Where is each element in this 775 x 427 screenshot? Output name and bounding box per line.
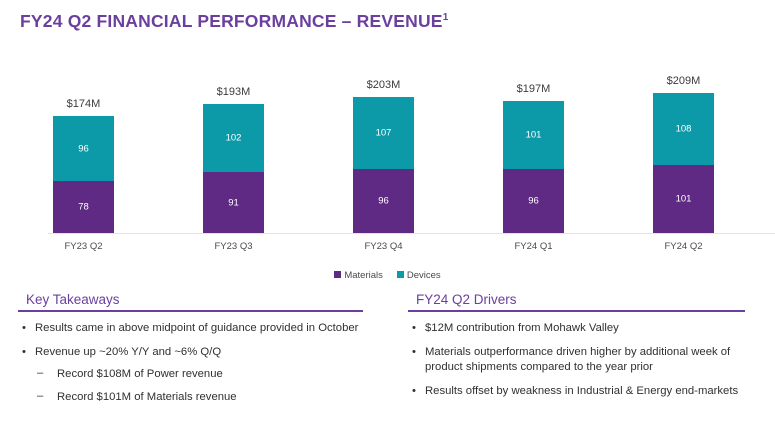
bar-total-label: $193M (191, 86, 276, 98)
bullet-item: •Revenue up ~20% Y/Y and ~6% Q/Q–Record … (18, 345, 386, 405)
title-footnote-marker: 1 (443, 12, 449, 23)
bar-segment-materials[interactable]: 78 (53, 181, 114, 233)
page-title-text: FY24 Q2 FINANCIAL PERFORMANCE – REVENUE (20, 11, 443, 31)
legend-item[interactable]: Materials (334, 270, 383, 281)
bar-segment-value: 101 (503, 130, 564, 140)
bar-segment-devices[interactable]: 101 (503, 101, 564, 169)
bar-segment-devices[interactable]: 107 (353, 97, 414, 169)
sub-bullet-marker-icon: – (37, 389, 43, 404)
bullet-item: •Materials outperformance driven higher … (408, 345, 753, 375)
bullet-marker-icon: • (22, 321, 26, 336)
legend-swatch-icon (397, 271, 404, 278)
bar-group: 10291$193MFY23 Q3 (203, 58, 264, 233)
bar-stack[interactable]: 9678 (53, 116, 114, 233)
bar-group: 108101$209MFY24 Q2 (653, 58, 714, 233)
bullet-item: •$12M contribution from Mohawk Valley (408, 321, 753, 336)
x-axis-label: FY23 Q2 (39, 241, 128, 252)
bar-segment-devices[interactable]: 108 (653, 93, 714, 165)
bullet-text: Results offset by weakness in Industrial… (425, 385, 738, 397)
legend-swatch-icon (334, 271, 341, 278)
bar-segment-value: 107 (353, 128, 414, 138)
bullet-text: Revenue up ~20% Y/Y and ~6% Q/Q (35, 346, 221, 358)
drivers-heading: FY24 Q2 Drivers (408, 292, 753, 310)
bar-segment-value: 78 (53, 202, 114, 212)
legend-item[interactable]: Devices (397, 270, 441, 281)
bar-segment-value: 96 (53, 144, 114, 154)
sub-bullet-text: Record $108M of Power revenue (57, 368, 223, 380)
bullet-text: Materials outperformance driven higher b… (425, 346, 730, 373)
sub-bullet-text: Record $101M of Materials revenue (57, 391, 237, 403)
sub-bullet-item: –Record $101M of Materials revenue (35, 390, 386, 405)
bullet-text: $12M contribution from Mohawk Valley (425, 322, 619, 334)
bar-segment-value: 91 (203, 198, 264, 208)
chart-plot-area: 9678$174MFY23 Q210291$193MFY23 Q310796$2… (30, 58, 745, 233)
legend-label: Devices (407, 270, 441, 281)
bar-stack[interactable]: 10291 (203, 104, 264, 233)
sub-bullet-list: –Record $108M of Power revenue–Record $1… (35, 367, 386, 405)
bar-group: 10796$203MFY23 Q4 (353, 58, 414, 233)
bar-segment-value: 102 (203, 133, 264, 143)
bullet-item: •Results offset by weakness in Industria… (408, 384, 753, 399)
bar-segment-value: 101 (653, 194, 714, 204)
page-title: FY24 Q2 FINANCIAL PERFORMANCE – REVENUE1 (20, 11, 448, 32)
bar-total-label: $197M (491, 83, 576, 95)
bar-segment-value: 108 (653, 124, 714, 134)
drivers-rule (408, 310, 745, 312)
sub-bullet-item: –Record $108M of Power revenue (35, 367, 386, 382)
bar-segment-materials[interactable]: 96 (503, 169, 564, 233)
bar-group: 9678$174MFY23 Q2 (53, 58, 114, 233)
bar-group: 10196$197MFY24 Q1 (503, 58, 564, 233)
x-axis-label: FY24 Q1 (489, 241, 578, 252)
bar-total-label: $174M (41, 98, 126, 110)
key-takeaways-rule (18, 310, 363, 312)
revenue-stacked-bar-chart: 9678$174MFY23 Q210291$193MFY23 Q310796$2… (0, 58, 775, 258)
bar-stack[interactable]: 10196 (503, 101, 564, 233)
key-takeaways-heading: Key Takeaways (18, 292, 386, 310)
bar-segment-materials[interactable]: 101 (653, 165, 714, 233)
bar-stack[interactable]: 10796 (353, 97, 414, 233)
bar-segment-materials[interactable]: 96 (353, 169, 414, 233)
bullet-marker-icon: • (412, 321, 416, 336)
bar-segment-value: 96 (503, 196, 564, 206)
bullet-marker-icon: • (412, 345, 416, 360)
chart-axis-line (48, 233, 775, 234)
bullet-item: •Results came in above midpoint of guida… (18, 321, 386, 336)
bullet-marker-icon: • (22, 345, 26, 360)
key-takeaways-panel: Key Takeaways •Results came in above mid… (18, 292, 386, 414)
bar-total-label: $209M (641, 75, 726, 87)
bar-stack[interactable]: 108101 (653, 93, 714, 233)
drivers-panel: FY24 Q2 Drivers •$12M contribution from … (408, 292, 753, 408)
bar-segment-materials[interactable]: 91 (203, 172, 264, 233)
bullet-marker-icon: • (412, 384, 416, 399)
chart-legend: MaterialsDevices (0, 270, 775, 281)
key-takeaways-list: •Results came in above midpoint of guida… (18, 321, 386, 405)
legend-label: Materials (344, 270, 383, 281)
bullet-text: Results came in above midpoint of guidan… (35, 322, 358, 334)
drivers-list: •$12M contribution from Mohawk Valley•Ma… (408, 321, 753, 399)
bar-segment-value: 96 (353, 196, 414, 206)
x-axis-label: FY23 Q3 (189, 241, 278, 252)
bar-segment-devices[interactable]: 102 (203, 104, 264, 172)
x-axis-label: FY23 Q4 (339, 241, 428, 252)
sub-bullet-marker-icon: – (37, 366, 43, 381)
bar-total-label: $203M (341, 79, 426, 91)
x-axis-label: FY24 Q2 (639, 241, 728, 252)
bar-segment-devices[interactable]: 96 (53, 116, 114, 180)
